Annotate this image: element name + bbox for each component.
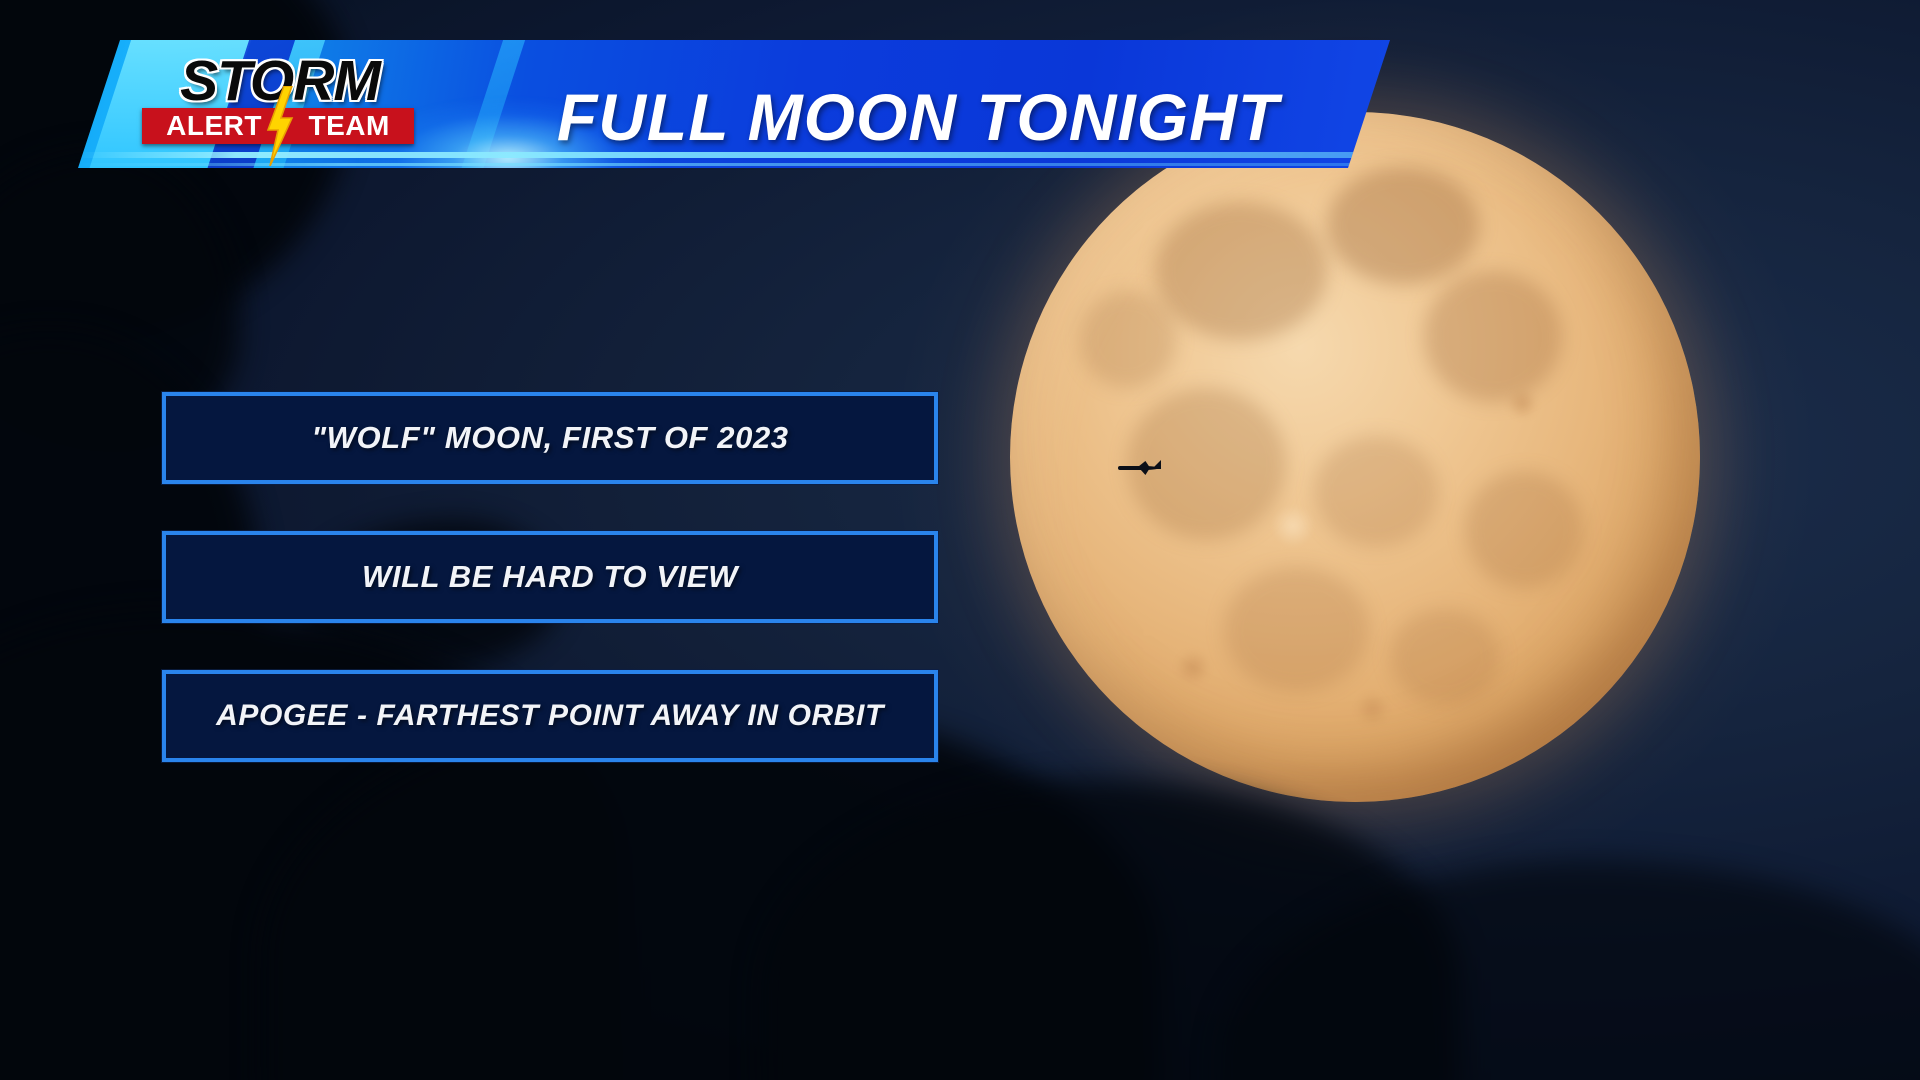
bullet-text: WILL BE HARD TO VIEW (362, 559, 738, 595)
broadcast-graphic: STORM ALERT TEAM FULL MOON TONIGHT "WOLF… (0, 0, 1920, 1080)
airplane-fuselage (1118, 466, 1158, 470)
full-moon-image (1010, 112, 1700, 802)
moon-limb-shading (1010, 112, 1700, 802)
bullet-item: APOGEE - FARTHEST POINT AWAY IN ORBIT (162, 670, 938, 762)
moon-group (1010, 112, 1700, 802)
bullet-item: WILL BE HARD TO VIEW (162, 531, 938, 623)
station-logo: STORM ALERT TEAM (140, 50, 420, 158)
logo-alert-text: ALERT (166, 110, 262, 141)
airplane-wing (1138, 461, 1150, 475)
bullet-text: "WOLF" MOON, FIRST OF 2023 (311, 420, 788, 456)
bullet-list: "WOLF" MOON, FIRST OF 2023 WILL BE HARD … (162, 392, 938, 809)
lightning-bolt-icon (264, 86, 294, 166)
logo-team-text: TEAM (309, 110, 390, 141)
header-banner: STORM ALERT TEAM FULL MOON TONIGHT (78, 40, 1390, 168)
bullet-text: APOGEE - FARTHEST POINT AWAY IN ORBIT (216, 699, 884, 733)
page-title: FULL MOON TONIGHT (478, 78, 1358, 156)
airplane-silhouette-icon (1118, 460, 1164, 476)
bullet-item: "WOLF" MOON, FIRST OF 2023 (162, 392, 938, 484)
